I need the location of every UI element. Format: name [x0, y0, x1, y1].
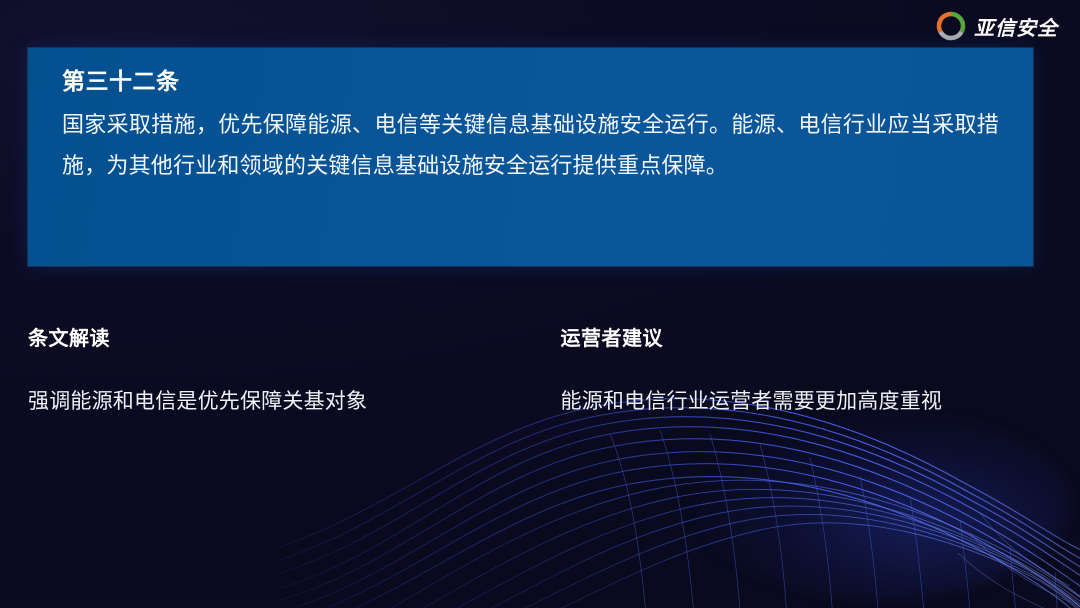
slide: 亚信安全 第三十二条 国家采取措施，优先保障能源、电信等关键信息基础设施安全运行…	[0, 0, 1080, 608]
commentary-columns: 条文解读 强调能源和电信是优先保障关基对象 运营者建议 能源和电信行业运营者需要…	[28, 322, 1033, 423]
article-panel: 第三十二条 国家采取措施，优先保障能源、电信等关键信息基础设施安全运行。能源、电…	[28, 48, 1033, 266]
brand-name: 亚信安全	[974, 12, 1058, 41]
column-body: 强调能源和电信是优先保障关基对象	[28, 381, 491, 423]
column-heading: 运营者建议	[561, 322, 994, 351]
brand-logo: 亚信安全	[936, 11, 1058, 41]
article-title: 第三十二条	[62, 68, 999, 96]
article-body: 国家采取措施，优先保障能源、电信等关键信息基础设施安全运行。能源、电信行业应当采…	[62, 104, 999, 186]
column-heading: 条文解读	[28, 322, 491, 351]
column-recommendation: 运营者建议 能源和电信行业运营者需要更加高度重视	[531, 322, 1034, 423]
column-interpretation: 条文解读 强调能源和电信是优先保障关基对象	[28, 322, 531, 423]
background-glow	[690, 408, 1070, 598]
asiainfo-ring-logo-icon	[936, 11, 966, 41]
column-body: 能源和电信行业运营者需要更加高度重视	[561, 381, 994, 423]
